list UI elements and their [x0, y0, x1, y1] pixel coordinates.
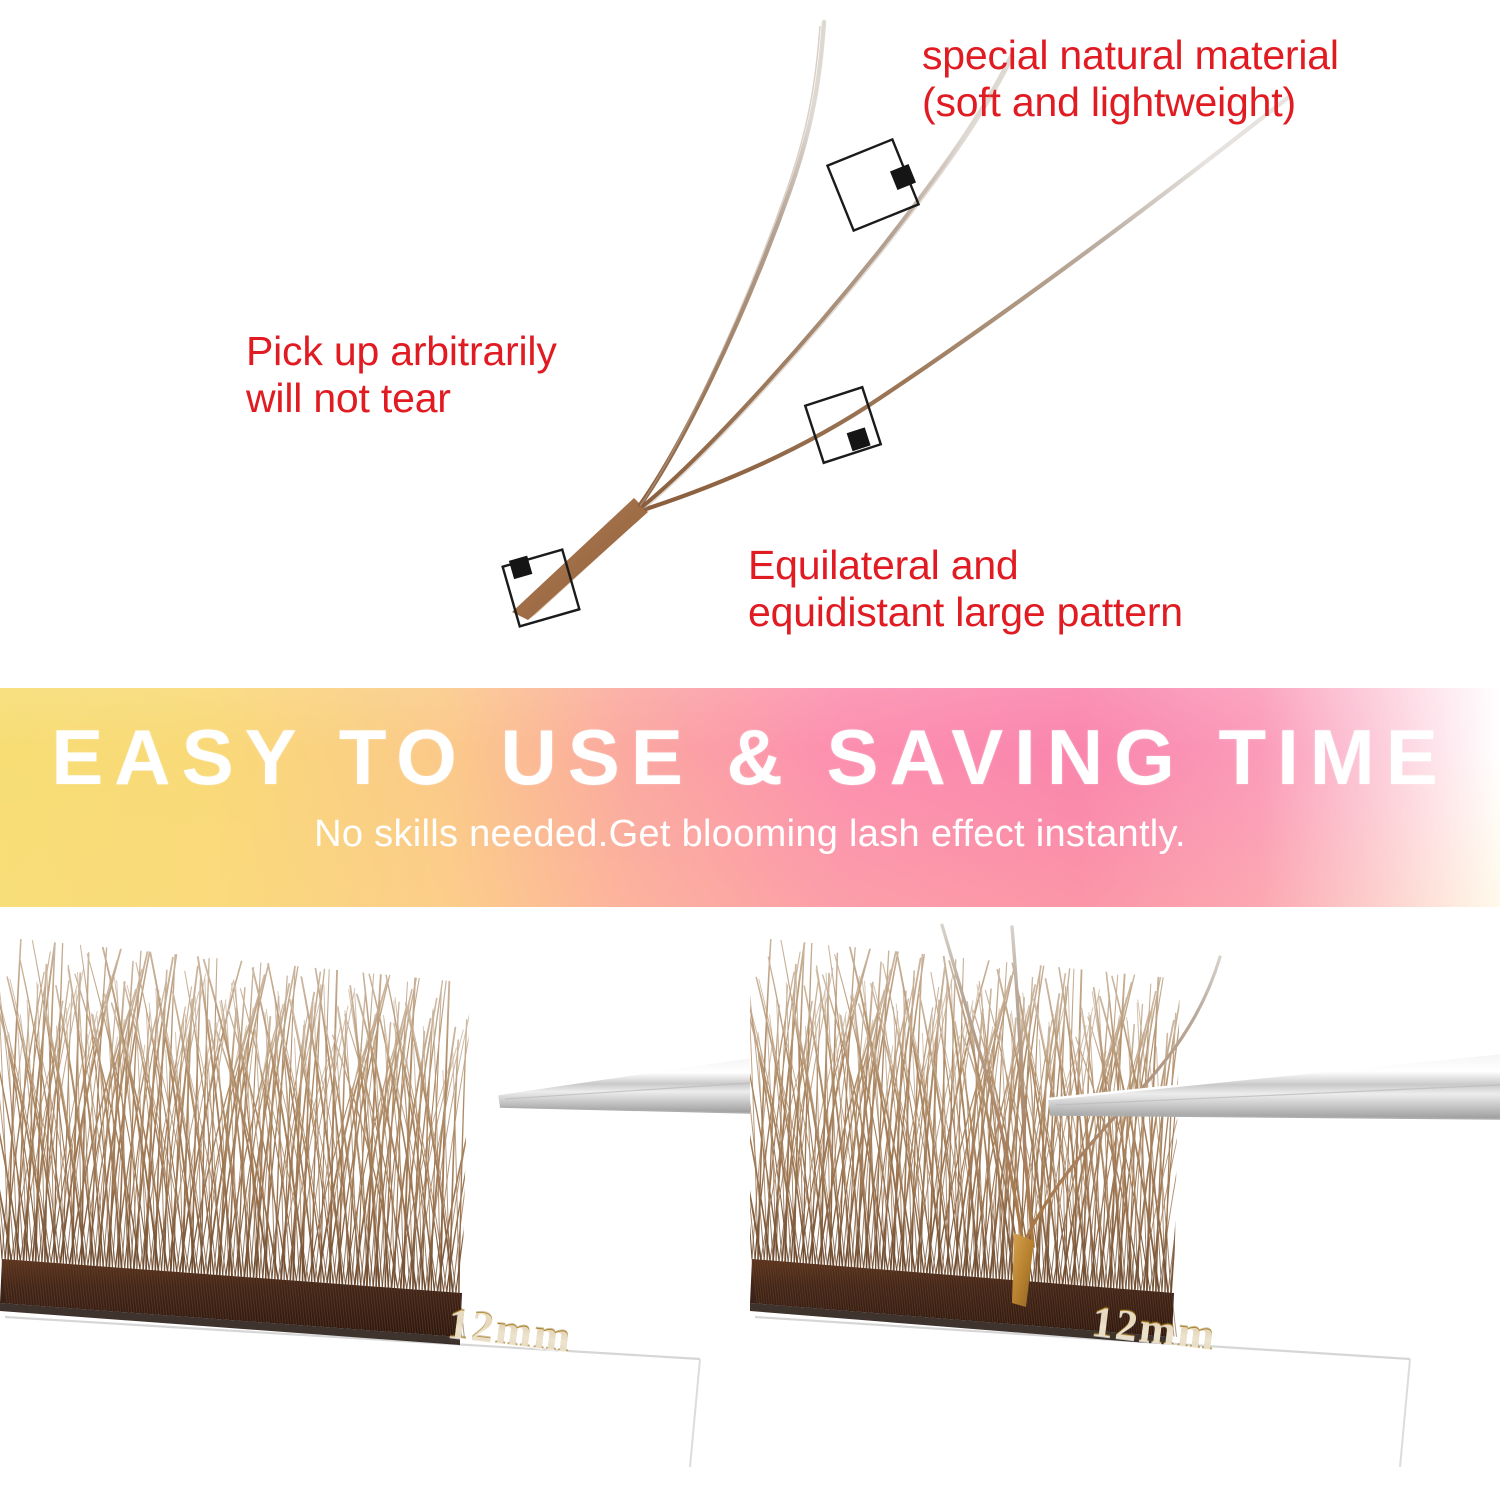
- promo-banner: EASY TO USE & SAVING TIME No skills need…: [0, 688, 1500, 907]
- tweezer-tip: [498, 1057, 750, 1113]
- photo-panel-lash-fan-picked: [750, 907, 1500, 1500]
- annotation-pick-up-arbitrarily: Pick up arbitrarily will not tear: [246, 328, 557, 421]
- annotation-special-natural-material: special natural material (soft and light…: [922, 32, 1339, 125]
- banner-subtitle: No skills needed.Get blooming lash effec…: [0, 813, 1500, 856]
- bottom-photo-section: [0, 907, 1500, 1500]
- banner-headline: EASY TO USE & SAVING TIME: [0, 718, 1500, 796]
- annotation-equilateral-equidistant: Equilateral and equidistant large patter…: [748, 542, 1183, 635]
- top-diagram-section: special natural material (soft and light…: [0, 0, 1500, 688]
- photo-panel-lash-tray: [0, 907, 750, 1500]
- callout-box-middle: [805, 387, 881, 463]
